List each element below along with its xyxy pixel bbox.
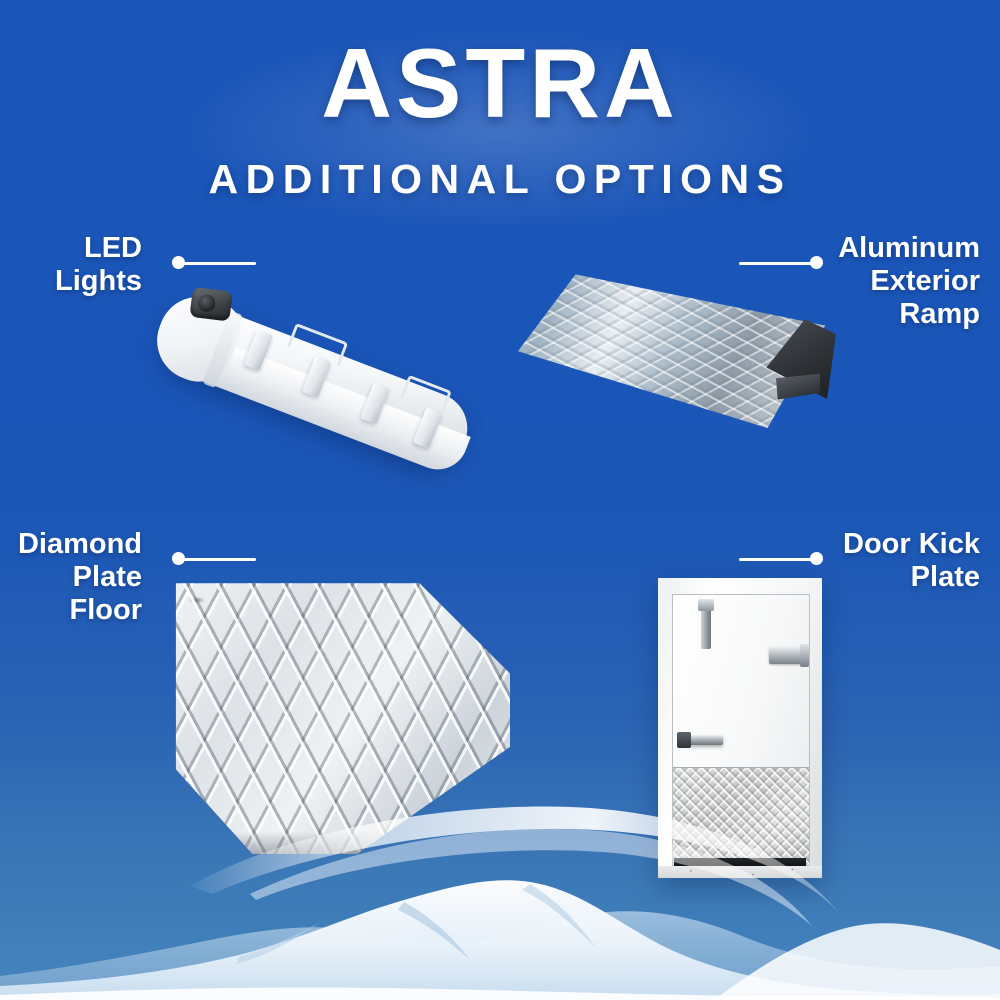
door-safety-latch-icon (701, 605, 711, 649)
product-image-led-light (158, 272, 518, 437)
leader-bar (178, 262, 256, 265)
led-fixture-body (153, 293, 478, 475)
leader-bar (739, 558, 817, 561)
leader-bar (178, 558, 256, 561)
callout-label-line: Plate (2, 561, 142, 594)
product-image-diamond-plate-floor (162, 572, 510, 854)
header: ASTRA ADDITIONAL OPTIONS (0, 34, 1000, 203)
product-image-aluminum-ramp (518, 268, 838, 428)
leader-line-led-lights (172, 256, 256, 270)
leader-dot-icon (810, 552, 823, 565)
door-kick-plate-surface (673, 767, 809, 865)
callout-label-line: LED (2, 232, 142, 265)
page-subtitle: ADDITIONAL OPTIONS (0, 156, 1000, 203)
leader-bar (739, 262, 817, 265)
door-frame (658, 578, 822, 878)
poster: ASTRA ADDITIONAL OPTIONS LED Lights Alum… (0, 0, 1000, 1000)
brand-title: ASTRA (0, 34, 1000, 134)
door-hinge-icon (769, 647, 803, 664)
door-panel (672, 594, 810, 866)
callout-label-line: Lights (2, 265, 142, 298)
callout-label-line: Diamond (2, 528, 142, 561)
callout-label-line: Aluminum (810, 232, 980, 265)
door-floor-strip (658, 866, 822, 878)
callout-label-led-lights: LED Lights (2, 232, 142, 298)
product-image-walk-in-door (658, 578, 822, 878)
door-threshold (674, 858, 806, 866)
door-handle-icon (681, 735, 723, 745)
callout-label-diamond-plate-floor: Diamond Plate Floor (2, 528, 142, 627)
floor-sheet-edge (162, 572, 510, 854)
leader-line-diamond-plate-floor (172, 552, 256, 566)
callout-label-line: Floor (2, 594, 142, 627)
leader-line-door-kick-plate (739, 552, 823, 566)
led-cable-gland-icon (189, 287, 232, 322)
